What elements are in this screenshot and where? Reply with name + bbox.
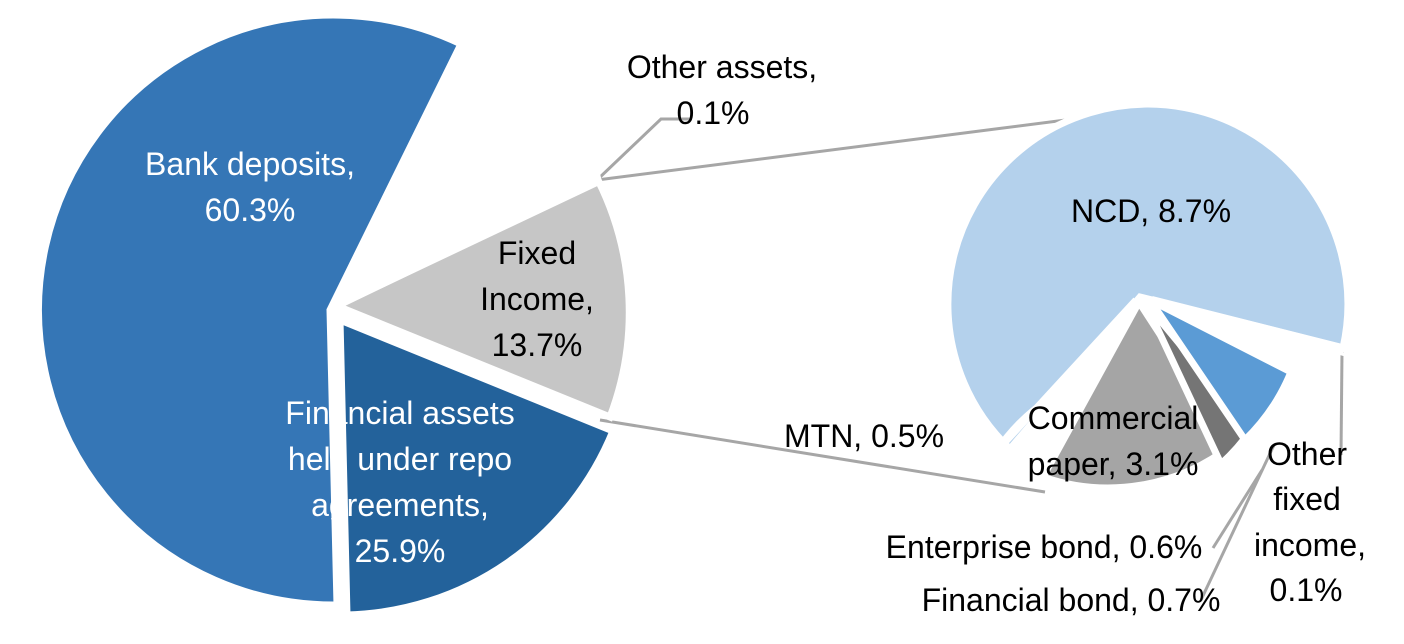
label-other-fixed-income-line2: fixed xyxy=(1273,481,1341,517)
label-other-assets-line1: Other assets, xyxy=(627,49,817,85)
label-ncd: NCD, 8.7% xyxy=(1071,193,1231,229)
label-other-fixed-income-line4: 0.1% xyxy=(1270,572,1343,608)
label-bank-deposits-line2: 60.3% xyxy=(205,192,296,228)
label-commercial-paper-line1: Commercial xyxy=(1028,400,1199,436)
leader-line-financial-bond xyxy=(1201,445,1274,600)
label-fixed-income-line3: 13.7% xyxy=(492,327,583,363)
label-other-assets-line2: 0.1% xyxy=(677,95,750,131)
chart-canvas: Bank deposits, 60.3% Financial assets he… xyxy=(0,0,1404,644)
label-bank-deposits-line1: Bank deposits, xyxy=(145,146,355,182)
label-other-fixed-income-line3: income, xyxy=(1254,527,1366,563)
label-enterprise-bond: Enterprise bond, 0.6% xyxy=(886,529,1203,565)
label-repo-line1: Financial assets xyxy=(285,395,514,431)
label-fixed-income-line2: Income, xyxy=(480,281,594,317)
label-financial-bond: Financial bond, 0.7% xyxy=(922,582,1221,618)
label-repo-line2: held under repo xyxy=(288,441,512,477)
label-mtn: MTN, 0.5% xyxy=(784,418,944,454)
label-commercial-paper-line2: paper, 3.1% xyxy=(1028,446,1199,482)
label-fixed-income-line1: Fixed xyxy=(498,235,576,271)
pie-of-pie-chart: Bank deposits, 60.3% Financial assets he… xyxy=(0,0,1404,644)
label-repo-line4: 25.9% xyxy=(355,533,446,569)
label-other-fixed-income-line1: Other xyxy=(1267,436,1347,472)
label-repo-line3: agreements, xyxy=(311,487,489,523)
